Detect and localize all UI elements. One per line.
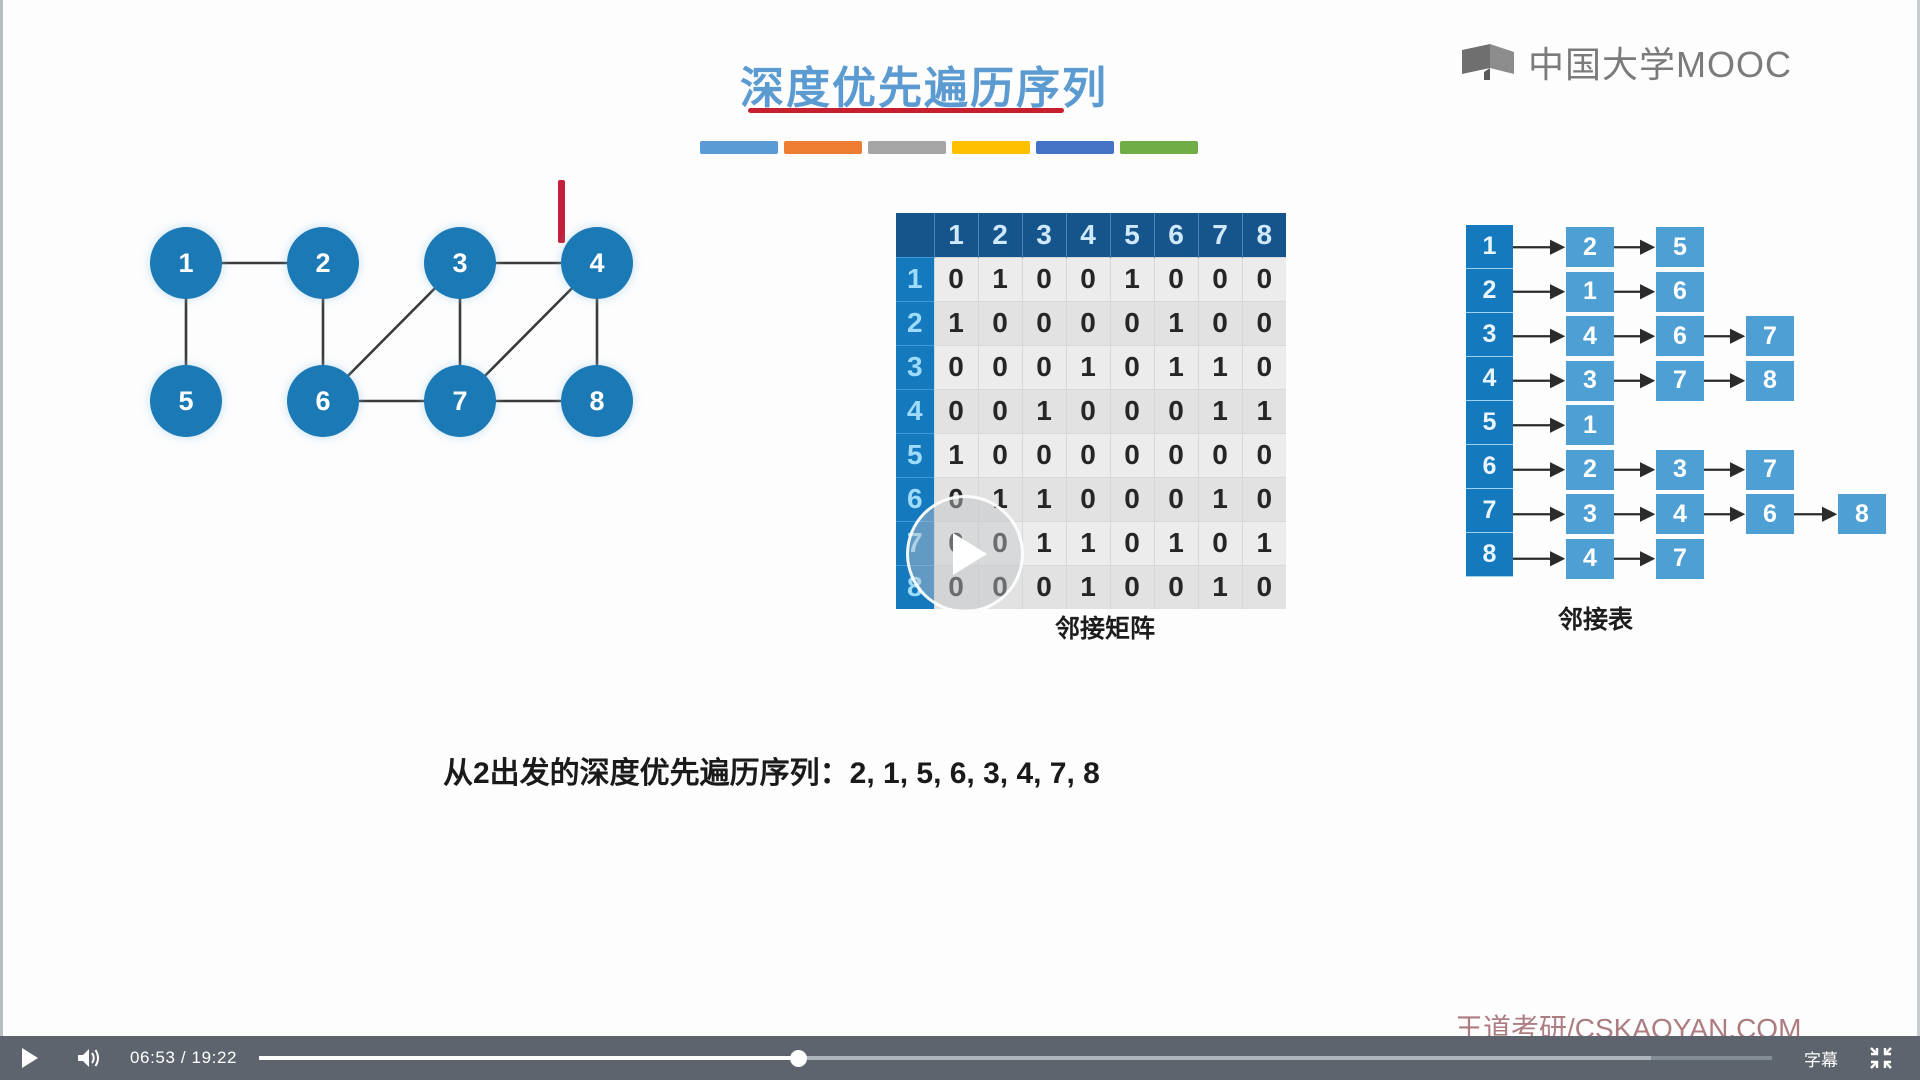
matrix-cell-3-3: 0 [1022, 345, 1066, 389]
list-node-3-4: 4 [1566, 316, 1614, 356]
list-head-2: 2 [1466, 269, 1513, 313]
subtitle-label: 字幕 [1804, 1046, 1838, 1071]
matrix-cell-6-8: 0 [1242, 477, 1286, 521]
matrix-col-header-7: 7 [1198, 213, 1242, 257]
matrix-cell-3-6: 1 [1154, 345, 1198, 389]
list-node-1-5: 5 [1656, 227, 1704, 267]
graph-node-4: 4 [561, 227, 633, 299]
dfs-answer-text: 从2出发的深度优先遍历序列：2, 1, 5, 6, 3, 4, 7, 8 [443, 748, 1100, 792]
matrix-cell-7-6: 1 [1154, 521, 1198, 565]
graph-edge [484, 287, 573, 377]
matrix-cell-1-6: 0 [1154, 257, 1198, 301]
matrix-cell-6-7: 1 [1198, 477, 1242, 521]
matrix-cell-5-1: 1 [934, 433, 978, 477]
matrix-cell-8-8: 0 [1242, 565, 1286, 609]
matrix-cell-1-3: 0 [1022, 257, 1066, 301]
list-node-5-1: 1 [1566, 405, 1614, 445]
matrix-cell-4-3: 1 [1022, 389, 1066, 433]
list-head-4: 4 [1466, 357, 1513, 401]
matrix-cell-2-2: 0 [978, 301, 1022, 345]
matrix-cell-7-3: 1 [1022, 521, 1066, 565]
play-button[interactable] [0, 1036, 60, 1080]
list-node-8-4: 4 [1566, 539, 1614, 579]
matrix-row-header-3: 3 [896, 345, 934, 389]
list-node-2-6: 6 [1656, 272, 1704, 312]
list-head-5: 5 [1466, 401, 1513, 445]
graph-edges [150, 165, 850, 545]
list-head-3: 3 [1466, 313, 1513, 357]
matrix-row-header-1: 1 [896, 257, 934, 301]
mooc-logo-text: 中国大学MOOC [1528, 36, 1792, 88]
list-node-4-3: 3 [1566, 361, 1614, 401]
matrix-cell-1-4: 0 [1066, 257, 1110, 301]
matrix-cell-2-1: 1 [934, 301, 978, 345]
video-player-page: 深度优先遍历序列 中国大学MOOC 12345678 1234567810100… [0, 0, 1920, 1080]
matrix-cell-4-8: 1 [1242, 389, 1286, 433]
matrix-row: 210000100 [896, 301, 1286, 345]
exit-fullscreen-icon [1869, 1046, 1893, 1070]
total-time: 19:22 [192, 1048, 238, 1067]
progress-handle[interactable] [790, 1050, 807, 1067]
matrix-col-header-1: 1 [934, 213, 978, 257]
graph-node-5: 5 [150, 365, 222, 437]
matrix-cell-7-4: 1 [1066, 521, 1110, 565]
matrix-cell-8-4: 1 [1066, 565, 1110, 609]
slide-canvas: 深度优先遍历序列 中国大学MOOC 12345678 1234567810100… [0, 0, 1920, 1043]
current-time: 06:53 [130, 1048, 176, 1067]
matrix-cell-1-5: 1 [1110, 257, 1154, 301]
matrix-cell-3-4: 1 [1066, 345, 1110, 389]
matrix-cell-5-5: 0 [1110, 433, 1154, 477]
matrix-cell-7-8: 1 [1242, 521, 1286, 565]
matrix-cell-4-6: 0 [1154, 389, 1198, 433]
matrix-cell-3-8: 0 [1242, 345, 1286, 389]
list-node-7-3: 3 [1566, 494, 1614, 534]
matrix-col-header-4: 4 [1066, 213, 1110, 257]
matrix-cell-4-7: 1 [1198, 389, 1242, 433]
matrix-cell-5-7: 0 [1198, 433, 1242, 477]
page-title: 深度优先遍历序列 [740, 52, 1108, 116]
list-node-2-1: 1 [1566, 272, 1614, 312]
matrix-cell-5-2: 0 [978, 433, 1022, 477]
matrix-caption: 邻接矩阵 [1055, 609, 1155, 645]
matrix-row: 400100011 [896, 389, 1286, 433]
graph-node-8: 8 [561, 365, 633, 437]
matrix-cell-2-7: 0 [1198, 301, 1242, 345]
list-node-3-7: 7 [1746, 316, 1794, 356]
accent-bar-6 [1120, 141, 1198, 154]
list-node-3-6: 6 [1656, 316, 1704, 356]
accent-bar-1 [700, 141, 778, 154]
list-node-7-4: 4 [1656, 494, 1704, 534]
play-overlay-button[interactable] [906, 495, 1024, 613]
list-node-1-2: 2 [1566, 227, 1614, 267]
graph-node-6: 6 [287, 365, 359, 437]
list-node-7-6: 6 [1746, 494, 1794, 534]
matrix-col-header-3: 3 [1022, 213, 1066, 257]
matrix-cell-8-5: 0 [1110, 565, 1154, 609]
matrix-row: 300010110 [896, 345, 1286, 389]
matrix-cell-7-5: 0 [1110, 521, 1154, 565]
matrix-row-header-5: 5 [896, 433, 934, 477]
accent-bar-4 [952, 141, 1030, 154]
adjacency-list-spine: 12345678 [1466, 225, 1513, 577]
volume-icon [76, 1047, 102, 1069]
matrix-header-row: 12345678 [896, 213, 1286, 257]
list-node-4-8: 8 [1746, 361, 1794, 401]
list-head-7: 7 [1466, 489, 1513, 533]
matrix-row: 510000000 [896, 433, 1286, 477]
list-node-7-8: 8 [1838, 494, 1886, 534]
matrix-row-header-4: 4 [896, 389, 934, 433]
matrix-cell-4-5: 0 [1110, 389, 1154, 433]
graph-diagram: 12345678 [150, 165, 850, 545]
matrix-cell-6-4: 0 [1066, 477, 1110, 521]
adjacency-list: 12345678 25164673781237346847 [1466, 225, 1886, 585]
matrix-cell-4-2: 0 [978, 389, 1022, 433]
graph-node-7: 7 [424, 365, 496, 437]
matrix-cell-8-7: 1 [1198, 565, 1242, 609]
matrix-cell-2-3: 0 [1022, 301, 1066, 345]
list-node-4-7: 7 [1656, 361, 1704, 401]
player-control-bar: 06:53 / 19:22 字幕 [0, 1036, 1920, 1080]
matrix-cell-8-6: 0 [1154, 565, 1198, 609]
play-icon [22, 1048, 38, 1068]
time-display: 06:53 / 19:22 [130, 1048, 237, 1068]
matrix-cell-4-1: 0 [934, 389, 978, 433]
accent-bar-row [700, 141, 1197, 154]
list-head-1: 1 [1466, 225, 1513, 269]
matrix-cell-3-5: 0 [1110, 345, 1154, 389]
matrix-col-header-5: 5 [1110, 213, 1154, 257]
matrix-cell-4-4: 0 [1066, 389, 1110, 433]
matrix-cell-3-1: 0 [934, 345, 978, 389]
matrix-cell-5-4: 0 [1066, 433, 1110, 477]
matrix-col-header-6: 6 [1154, 213, 1198, 257]
list-node-6-3: 3 [1656, 450, 1704, 490]
matrix-cell-6-6: 0 [1154, 477, 1198, 521]
matrix-cell-1-2: 1 [978, 257, 1022, 301]
matrix-cell-1-1: 0 [934, 257, 978, 301]
matrix-corner [896, 213, 934, 257]
graph-node-1: 1 [150, 227, 222, 299]
graph-node-3: 3 [424, 227, 496, 299]
matrix-cell-3-2: 0 [978, 345, 1022, 389]
mooc-logo: 中国大学MOOC [1460, 36, 1792, 88]
matrix-cell-3-7: 1 [1198, 345, 1242, 389]
matrix-row: 101001000 [896, 257, 1286, 301]
list-node-8-7: 7 [1656, 539, 1704, 579]
book-icon [1460, 42, 1516, 82]
title-underline [748, 108, 1064, 113]
graph-node-2: 2 [287, 227, 359, 299]
matrix-cell-6-5: 0 [1110, 477, 1154, 521]
matrix-cell-2-8: 0 [1242, 301, 1286, 345]
matrix-cell-8-3: 0 [1022, 565, 1066, 609]
matrix-cell-1-7: 0 [1198, 257, 1242, 301]
accent-bar-5 [1036, 141, 1114, 154]
matrix-cell-7-7: 0 [1198, 521, 1242, 565]
matrix-cell-2-5: 0 [1110, 301, 1154, 345]
matrix-col-header-8: 8 [1242, 213, 1286, 257]
matrix-cell-5-3: 0 [1022, 433, 1066, 477]
list-caption: 邻接表 [1558, 600, 1633, 636]
matrix-cell-5-8: 0 [1242, 433, 1286, 477]
matrix-cell-1-8: 0 [1242, 257, 1286, 301]
matrix-col-header-2: 2 [978, 213, 1022, 257]
matrix-row-header-2: 2 [896, 301, 934, 345]
list-node-6-7: 7 [1746, 450, 1794, 490]
matrix-cell-5-6: 0 [1154, 433, 1198, 477]
subtitle-button[interactable]: 字幕 [1790, 1036, 1852, 1080]
matrix-cell-2-6: 1 [1154, 301, 1198, 345]
fullscreen-button[interactable] [1852, 1036, 1910, 1080]
graph-edge [347, 287, 436, 377]
progress-bar[interactable] [259, 1036, 1772, 1080]
matrix-cell-2-4: 0 [1066, 301, 1110, 345]
accent-bar-2 [784, 141, 862, 154]
time-separator: / [181, 1048, 186, 1067]
list-node-6-2: 2 [1566, 450, 1614, 490]
list-head-6: 6 [1466, 445, 1513, 489]
volume-button[interactable] [62, 1036, 116, 1080]
matrix-cell-6-3: 1 [1022, 477, 1066, 521]
accent-bar-3 [868, 141, 946, 154]
progress-fill [259, 1056, 798, 1060]
list-head-8: 8 [1466, 533, 1513, 577]
play-icon [953, 533, 987, 575]
